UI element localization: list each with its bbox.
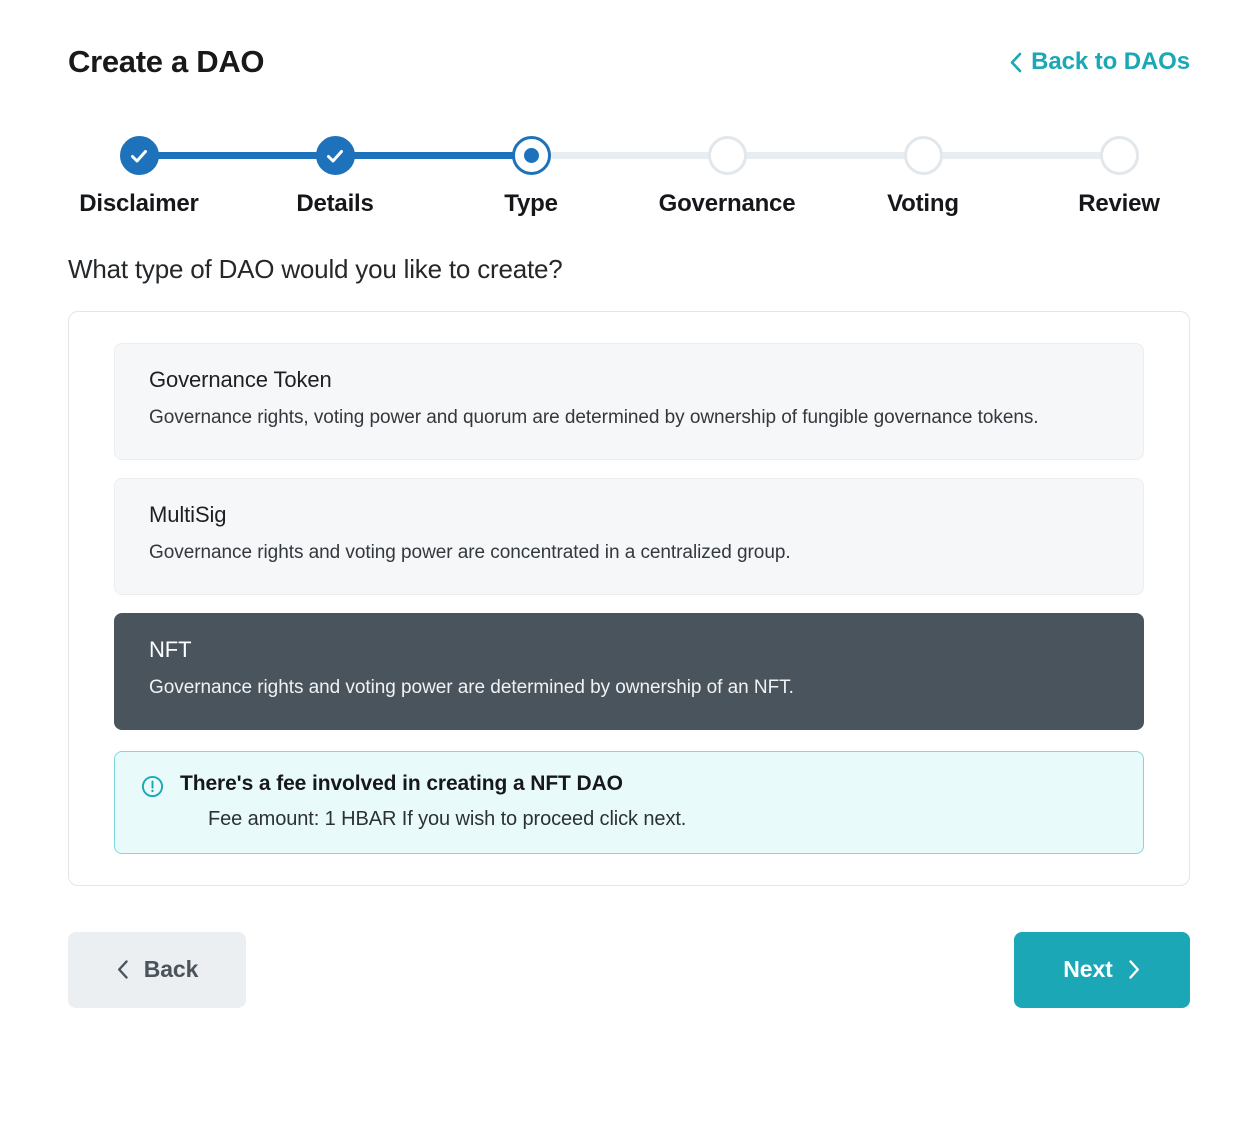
back-to-daos-link[interactable]: Back to DAOs (1008, 48, 1190, 76)
step-indicator-todo (1100, 136, 1139, 175)
option-description: Governance rights, voting power and quor… (149, 404, 1069, 433)
step-label-details: Details (296, 190, 373, 218)
dao-type-options-panel: Governance Token Governance rights, voti… (68, 311, 1190, 886)
page-title: Create a DAO (68, 44, 264, 80)
next-button[interactable]: Next (1014, 932, 1190, 1008)
step-voting[interactable]: Voting (852, 136, 994, 218)
step-indicator-done (316, 136, 355, 175)
back-to-daos-label: Back to DAOs (1031, 48, 1190, 76)
step-disclaimer[interactable]: Disclaimer (68, 136, 210, 218)
step-label-type: Type (504, 190, 557, 218)
page-header: Create a DAO Back to DAOs (56, 0, 1192, 80)
step-label-disclaimer: Disclaimer (79, 190, 198, 218)
back-button[interactable]: Back (68, 932, 246, 1008)
progress-stepper: Disclaimer Details Type Governance (68, 136, 1190, 228)
option-title: NFT (149, 637, 1109, 663)
check-icon (129, 146, 149, 166)
question-heading: What type of DAO would you like to creat… (68, 254, 1192, 285)
option-multisig[interactable]: MultiSig Governance rights and voting po… (114, 478, 1144, 595)
check-icon (325, 146, 345, 166)
step-label-voting: Voting (887, 190, 959, 218)
current-step-dot-icon (524, 148, 539, 163)
option-nft[interactable]: NFT Governance rights and voting power a… (114, 613, 1144, 730)
step-indicator-todo (904, 136, 943, 175)
option-governance-token[interactable]: Governance Token Governance rights, voti… (114, 343, 1144, 460)
option-description: Governance rights and voting power are c… (149, 539, 1069, 568)
chevron-left-icon (116, 959, 129, 980)
step-label-governance: Governance (659, 190, 796, 218)
step-indicator-done (120, 136, 159, 175)
step-type[interactable]: Type (460, 136, 602, 218)
option-description: Governance rights and voting power are d… (149, 674, 1069, 703)
chevron-right-icon (1128, 959, 1141, 980)
step-indicator-current (512, 136, 551, 175)
step-governance[interactable]: Governance (656, 136, 798, 218)
create-dao-page: Create a DAO Back to DAOs Disclaimer (0, 0, 1248, 1148)
alert-title: There's a fee involved in creating a NFT… (180, 772, 1117, 796)
option-title: Governance Token (149, 367, 1109, 393)
next-button-label: Next (1063, 956, 1112, 983)
step-indicator-todo (708, 136, 747, 175)
back-button-label: Back (144, 956, 199, 983)
alert-text: Fee amount: 1 HBAR If you wish to procee… (208, 808, 1117, 831)
exclamation-circle-icon (141, 775, 164, 803)
wizard-footer: Back Next (68, 932, 1190, 1008)
option-title: MultiSig (149, 502, 1109, 528)
step-label-review: Review (1078, 190, 1160, 218)
chevron-left-icon (1008, 51, 1022, 73)
nft-fee-alert: There's a fee involved in creating a NFT… (114, 751, 1144, 854)
step-review[interactable]: Review (1048, 136, 1190, 218)
step-details[interactable]: Details (264, 136, 406, 218)
